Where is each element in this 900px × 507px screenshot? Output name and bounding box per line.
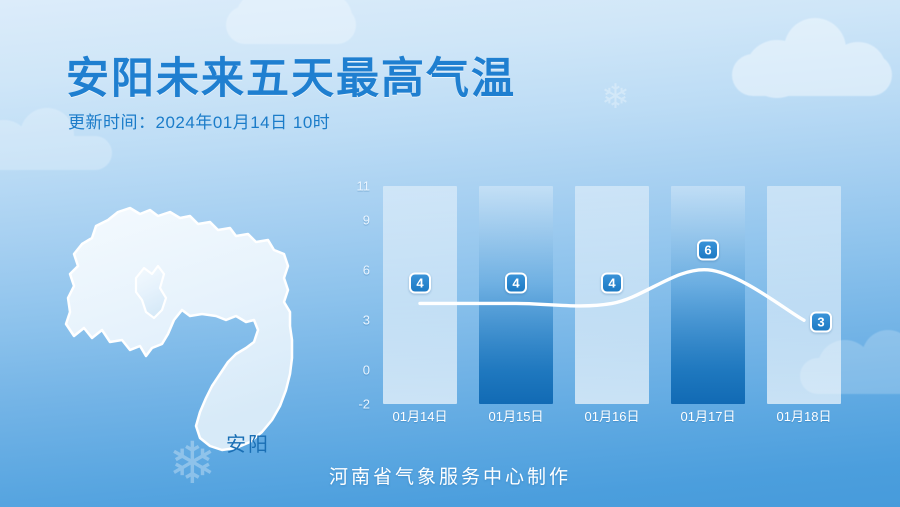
page-title: 安阳未来五天最高气温 <box>66 44 516 106</box>
temperature-chart: 119630-2 44463 01月14日01月15日01月16日01月17日0… <box>336 180 866 420</box>
y-axis-tick: 11 <box>340 179 370 194</box>
y-axis-tick: 0 <box>340 363 370 378</box>
temperature-value-badge: 4 <box>505 273 527 294</box>
y-axis-tick: -2 <box>340 397 370 412</box>
temperature-value-badge: 4 <box>409 273 431 294</box>
map-body-layer <box>66 208 292 450</box>
temperature-value-badge: 4 <box>601 273 623 294</box>
temperature-value-badge: 6 <box>697 239 719 260</box>
anyang-map: 安阳 <box>40 170 340 470</box>
update-time-text: 更新时间：2024年01月14日 10时 <box>68 108 330 133</box>
y-axis-tick: 3 <box>340 313 370 328</box>
footer-credit: 河南省气象服务中心制作 <box>0 462 900 489</box>
temperature-line <box>372 186 852 404</box>
x-axis-tick: 01月16日 <box>564 406 660 425</box>
infographic-canvas: ❄ ❄ 安阳未来五天最高气温 更新时间：2024年01月14日 10时 <box>0 0 900 507</box>
snowflake-icon: ❄ <box>601 80 630 114</box>
temperature-value-badge: 3 <box>810 312 832 333</box>
cloud-icon <box>226 0 356 44</box>
y-axis-tick: 6 <box>340 262 370 277</box>
x-axis-tick: 01月15日 <box>468 406 564 425</box>
x-axis-tick: 01月18日 <box>756 406 852 425</box>
cloud-icon <box>732 18 892 96</box>
y-axis-tick: 9 <box>340 212 370 227</box>
x-axis-tick: 01月17日 <box>660 406 756 425</box>
x-axis-tick: 01月14日 <box>372 406 468 425</box>
y-axis: 119630-2 <box>336 180 370 404</box>
map-region-label: 安阳 <box>226 428 270 457</box>
x-axis: 01月14日01月15日01月16日01月17日01月18日 <box>372 406 852 430</box>
